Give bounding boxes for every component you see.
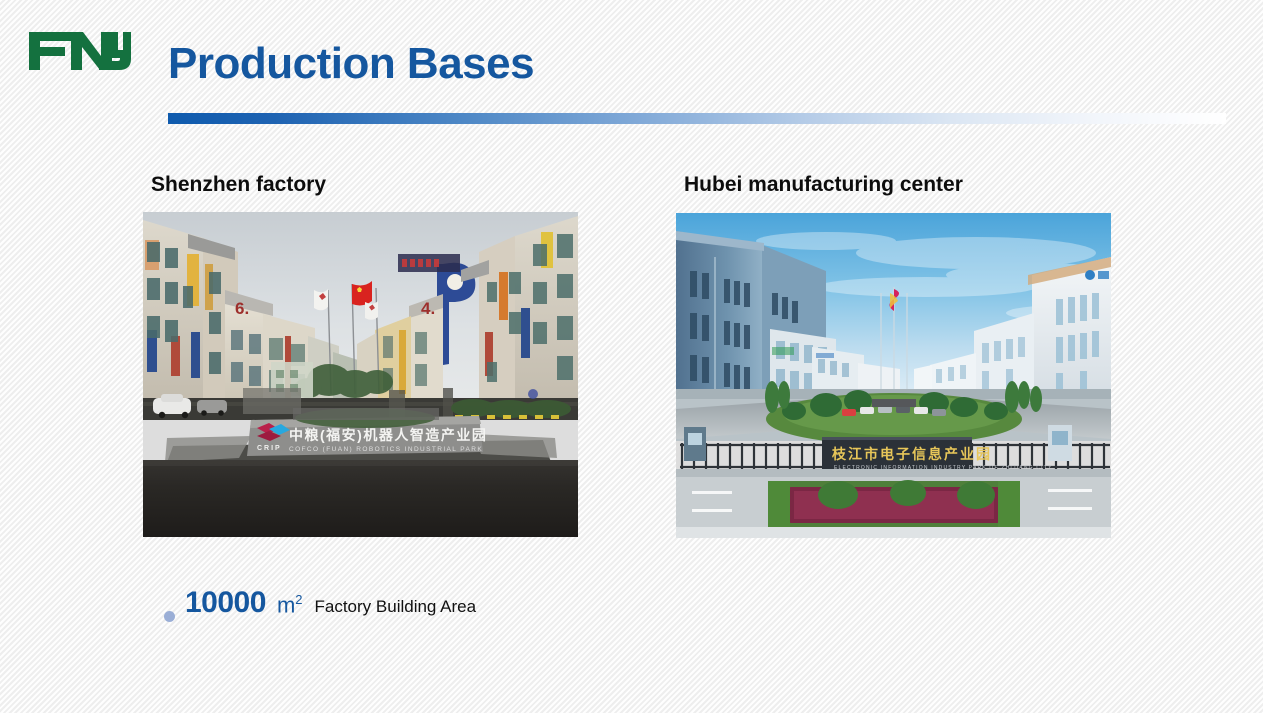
section-caption-hubei: Hubei manufacturing center xyxy=(684,173,963,197)
stat-value: 10000 xyxy=(185,586,266,620)
hubei-manufacturing-center-photo: 枝江市电子信息产业园 ELECTRONIC INFORMATION INDUST… xyxy=(676,213,1111,538)
photo-sign-cn-left: 中粮(福安)机器人智造产业园 xyxy=(289,427,487,443)
stat-label: Factory Building Area xyxy=(315,597,477,617)
fny-logo-icon xyxy=(27,26,131,74)
title-underline-rule xyxy=(168,113,1226,124)
stat-unit-exponent: 2 xyxy=(295,592,302,607)
section-caption-shenzhen: Shenzhen factory xyxy=(151,173,326,197)
photo-sign-en-left: COFCO (FUAN) ROBOTICS INDUSTRIAL PARK xyxy=(289,446,483,453)
factory-area-stat: 10000 m2 Factory Building Area xyxy=(164,586,476,620)
svg-text:4.: 4. xyxy=(421,299,435,318)
shenzhen-factory-photo: 6. xyxy=(143,212,578,537)
stat-unit: m2 xyxy=(277,592,303,618)
svg-text:CRIP: CRIP xyxy=(257,445,282,452)
stat-unit-base: m xyxy=(277,592,295,617)
page-title: Production Bases xyxy=(168,40,534,88)
svg-text:6.: 6. xyxy=(235,299,249,318)
slide-root: Production Bases Shenzhen factory xyxy=(0,0,1263,713)
photo-sign-cn-right: 枝江市电子信息产业园 xyxy=(831,446,992,462)
